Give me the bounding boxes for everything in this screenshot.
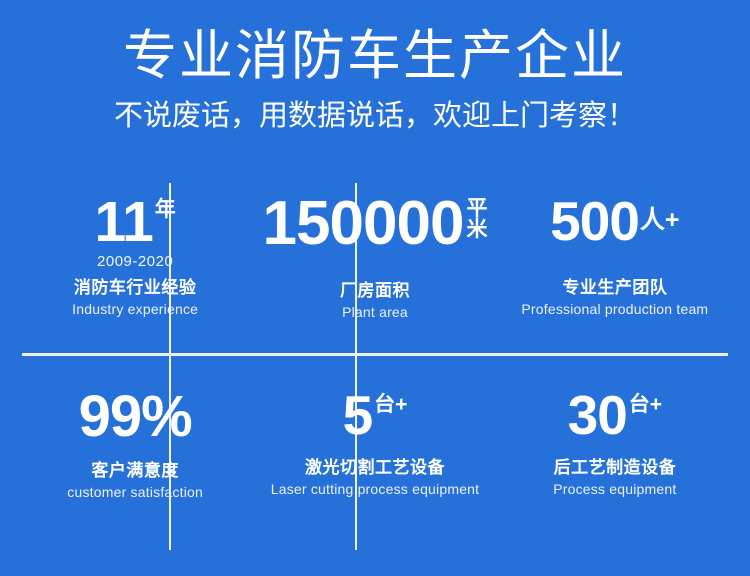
stat-unit-top: 平 xyxy=(466,198,487,219)
stat-label-cn: 后工艺制造设备 xyxy=(554,453,677,478)
main-title: 专业消防车生产企业 xyxy=(0,26,750,86)
stat-number: 5 xyxy=(343,389,373,441)
stat-number: 500 xyxy=(550,195,639,247)
stat-label-en: Laser cutting process equipment xyxy=(271,481,480,497)
stat-label-cn: 专业生产团队 xyxy=(562,273,667,298)
stat-unit: 台+ xyxy=(374,394,407,415)
stat-label-cn: 消防车行业经验 xyxy=(74,273,197,298)
stat-unit: 台+ xyxy=(629,394,662,415)
stat-number-row: 150000 平 米 xyxy=(263,195,488,254)
stat-unit-stacked: 平 米 xyxy=(466,198,487,240)
stat-number: 150000 xyxy=(263,195,464,254)
stat-number-row: 5 台+ xyxy=(343,389,408,441)
stat-label-cn: 激光切割工艺设备 xyxy=(305,453,445,478)
stat-label-cn: 客户满意度 xyxy=(91,456,179,481)
stat-unit-bottom: 米 xyxy=(466,219,487,240)
banner-header: 专业消防车生产企业 不说废话，用数据说话，欢迎上门考察！ xyxy=(0,0,750,134)
stat-number: 11 xyxy=(95,195,153,249)
stat-number-row: 30 台+ xyxy=(568,389,662,441)
stat-year-range: 2009-2020 xyxy=(97,253,173,270)
stat-cell-plant-area: 150000 平 米 厂房面积 Plant area xyxy=(248,183,501,367)
stat-label-en: Process equipment xyxy=(553,481,676,497)
stat-label-en: Industry experience xyxy=(72,301,198,317)
stat-number-row: 99% xyxy=(79,389,192,444)
stat-unit: 年 xyxy=(155,199,176,220)
stats-grid: 11 年 2009-2020 消防车行业经验 Industry experien… xyxy=(22,183,728,551)
stat-number: 99% xyxy=(79,389,192,444)
stat-label-cn: 厂房面积 xyxy=(340,276,410,301)
sub-title: 不说废话，用数据说话，欢迎上门考察！ xyxy=(0,100,750,133)
stat-number-row: 11 年 xyxy=(95,195,176,249)
stat-label-en: Professional production team xyxy=(521,301,708,317)
stat-cell-satisfaction: 99% 客户满意度 customer satisfaction xyxy=(22,367,248,551)
stat-cell-years: 11 年 2009-2020 消防车行业经验 Industry experien… xyxy=(22,183,248,367)
stat-label-en: customer satisfaction xyxy=(67,484,203,500)
stat-cell-team: 500 人+ 专业生产团队 Professional production te… xyxy=(502,183,728,367)
stat-number: 30 xyxy=(568,389,627,441)
stat-label-en: Plant area xyxy=(342,304,408,320)
stat-number-row: 500 人+ xyxy=(550,195,679,247)
stat-cell-process-equipment: 30 台+ 后工艺制造设备 Process equipment xyxy=(502,367,728,551)
promotional-banner: 专业消防车生产企业 不说废话，用数据说话，欢迎上门考察！ 11 年 2009-2… xyxy=(0,0,750,576)
stat-cell-laser-equipment: 5 台+ 激光切割工艺设备 Laser cutting process equi… xyxy=(248,367,501,551)
stat-unit: 人+ xyxy=(640,208,680,233)
